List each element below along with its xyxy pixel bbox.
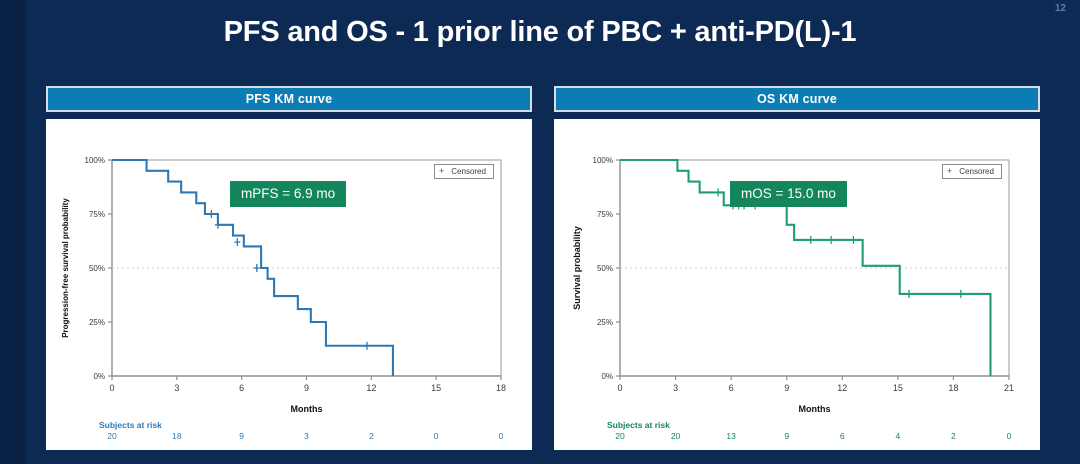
x-tick-label: 12 — [837, 383, 847, 393]
censored-tick-icon — [715, 188, 721, 196]
x-tick-label: 18 — [948, 383, 958, 393]
subjects-at-risk-title: Subjects at risk — [607, 420, 670, 430]
x-tick-label: 12 — [366, 383, 376, 393]
subjects-at-risk-value: 2 — [369, 431, 374, 441]
x-tick-label: 3 — [673, 383, 678, 393]
x-tick-label: 6 — [239, 383, 244, 393]
censored-tick-icon — [208, 210, 214, 218]
subjects-at-risk-value: 9 — [239, 431, 244, 441]
censored-tick-icon — [850, 236, 856, 244]
y-tick-label: 100% — [85, 156, 105, 165]
slide-edge-accent — [0, 0, 26, 464]
os-legend: + Censored — [942, 164, 1002, 179]
censored-marker-icon: + — [947, 167, 952, 176]
y-tick-label: 75% — [597, 210, 613, 219]
pfs-legend: + Censored — [434, 164, 494, 179]
pfs-panel: PFS KM curve 0%25%50%75%100%0369121518Mo… — [46, 86, 532, 450]
censored-tick-icon — [958, 290, 964, 298]
x-tick-label: 3 — [174, 383, 179, 393]
subjects-at-risk-value: 0 — [434, 431, 439, 441]
x-tick-label: 6 — [729, 383, 734, 393]
subjects-at-risk-value: 3 — [304, 431, 309, 441]
censored-tick-icon — [906, 290, 912, 298]
subjects-at-risk-value: 4 — [895, 431, 900, 441]
subjects-at-risk-value: 9 — [784, 431, 789, 441]
x-tick-label: 0 — [617, 383, 622, 393]
y-tick-label: 25% — [597, 318, 613, 327]
censored-marker-icon: + — [439, 167, 444, 176]
os-median-badge: mOS = 15.0 mo — [730, 181, 847, 207]
pfs-chart-body: 0%25%50%75%100%0369121518MonthsProgressi… — [46, 119, 532, 450]
subjects-at-risk-value: 0 — [499, 431, 504, 441]
censored-tick-icon — [808, 236, 814, 244]
censored-tick-icon — [215, 221, 221, 229]
censored-tick-icon — [254, 264, 260, 272]
pfs-median-badge: mPFS = 6.9 mo — [230, 181, 346, 207]
page-number: 12 — [1055, 3, 1066, 14]
x-tick-label: 21 — [1004, 383, 1014, 393]
y-tick-label: 0% — [93, 372, 105, 381]
pfs-legend-label: Censored — [451, 168, 486, 176]
x-tick-label: 9 — [304, 383, 309, 393]
y-tick-label: 50% — [597, 264, 613, 273]
subjects-at-risk-value: 20 — [615, 431, 625, 441]
charts-container: PFS KM curve 0%25%50%75%100%0369121518Mo… — [46, 86, 1040, 450]
x-tick-label: 0 — [109, 383, 114, 393]
subjects-at-risk-value: 13 — [726, 431, 736, 441]
x-tick-label: 18 — [496, 383, 506, 393]
x-tick-label: 9 — [784, 383, 789, 393]
pfs-panel-header: PFS KM curve — [46, 86, 532, 112]
y-tick-label: 0% — [601, 372, 613, 381]
subjects-at-risk-value: 2 — [951, 431, 956, 441]
y-tick-label: 25% — [89, 318, 105, 327]
y-tick-label: 50% — [89, 264, 105, 273]
y-axis-title: Progression-free survival probability — [61, 198, 70, 338]
y-tick-label: 75% — [89, 210, 105, 219]
y-axis-title: Survival probability — [572, 226, 582, 310]
x-axis-title: Months — [799, 404, 831, 414]
subjects-at-risk-value: 20 — [671, 431, 681, 441]
subjects-at-risk-value: 20 — [107, 431, 117, 441]
os-panel: OS KM curve 0%25%50%75%100%036912151821M… — [554, 86, 1040, 450]
page-title: PFS and OS - 1 prior line of PBC + anti-… — [0, 16, 1080, 49]
censored-tick-icon — [828, 236, 834, 244]
subjects-at-risk-value: 6 — [840, 431, 845, 441]
os-legend-label: Censored — [959, 168, 994, 176]
os-panel-header: OS KM curve — [554, 86, 1040, 112]
censored-tick-icon — [364, 342, 370, 350]
x-tick-label: 15 — [431, 383, 441, 393]
os-chart-body: 0%25%50%75%100%036912151821MonthsSurviva… — [554, 119, 1040, 450]
x-tick-label: 15 — [893, 383, 903, 393]
y-tick-label: 100% — [593, 156, 613, 165]
subjects-at-risk-title: Subjects at risk — [99, 420, 162, 430]
censored-tick-icon — [234, 238, 240, 246]
subjects-at-risk-value: 18 — [172, 431, 182, 441]
x-axis-title: Months — [291, 404, 323, 414]
subjects-at-risk-value: 0 — [1007, 431, 1012, 441]
